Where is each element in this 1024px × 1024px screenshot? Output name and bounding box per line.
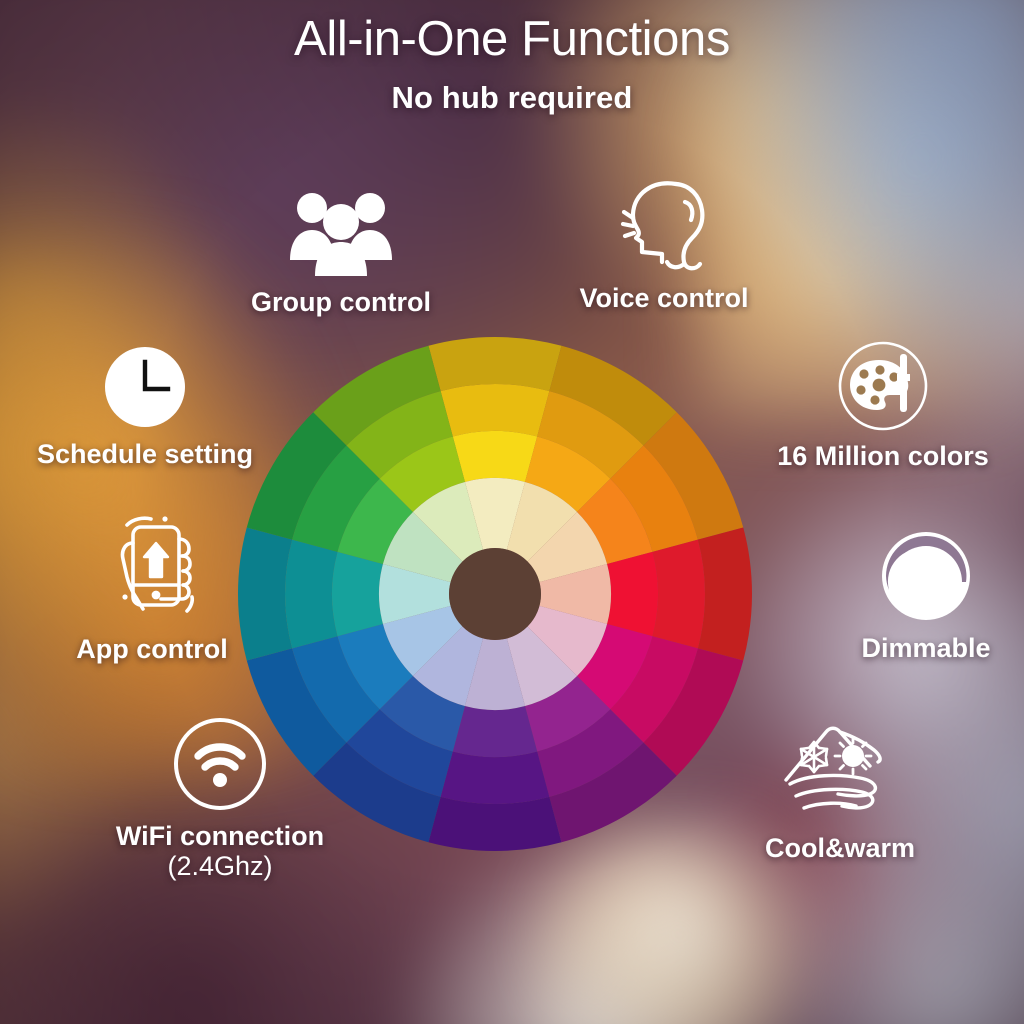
- infographic-canvas: All-in-One Functions No hub required Gro…: [0, 0, 1024, 1024]
- color-wheel-segment: [428, 797, 561, 851]
- color-wheel-hub: [449, 548, 541, 640]
- color-wheel-segment: [441, 384, 550, 437]
- color-wheel-segment: [332, 552, 383, 636]
- feature-app-control[interactable]: App control: [22, 513, 282, 664]
- feature-label: Schedule setting: [0, 439, 290, 469]
- color-wheel-segment: [652, 540, 705, 649]
- snowflake-sun-icon: [700, 718, 980, 829]
- header-block: All-in-One Functions No hub required: [0, 14, 1024, 116]
- feature-sublabel: (2.4Ghz): [60, 851, 380, 882]
- color-wheel-segment: [607, 552, 658, 636]
- feature-group-control[interactable]: Group control: [196, 186, 486, 317]
- feature-label: WiFi connection: [60, 821, 380, 851]
- voice-head-icon: [524, 176, 804, 279]
- feature-voice-control[interactable]: Voice control: [524, 176, 804, 313]
- color-wheel-segment: [441, 751, 550, 804]
- feature-label: Dimmable: [828, 633, 1024, 663]
- feature-16-million-colors[interactable]: 16 Million colors: [742, 340, 1024, 471]
- feature-dimmable[interactable]: Dimmable: [828, 528, 1024, 663]
- feature-label: Group control: [196, 287, 486, 317]
- dimmer-dial-icon: [828, 528, 1024, 629]
- feature-cool-warm[interactable]: Cool&warm: [700, 718, 980, 863]
- color-wheel-segment: [428, 337, 561, 391]
- feature-label: 16 Million colors: [742, 441, 1024, 471]
- feature-wifi-connection[interactable]: WiFi connection (2.4Ghz): [60, 716, 380, 882]
- feature-label: Cool&warm: [700, 833, 980, 863]
- group-people-icon: [196, 186, 486, 283]
- feature-schedule-setting[interactable]: Schedule setting: [0, 344, 290, 469]
- page-title: All-in-One Functions: [0, 14, 1024, 66]
- clock-icon: [0, 344, 290, 435]
- paint-palette-icon: [742, 340, 1024, 437]
- wifi-icon: [60, 716, 380, 817]
- feature-label: Voice control: [524, 283, 804, 313]
- color-wheel-segment: [453, 706, 537, 757]
- feature-label: App control: [22, 634, 282, 664]
- color-wheel-segment: [285, 540, 338, 649]
- page-subtitle: No hub required: [0, 80, 1024, 116]
- color-wheel-segment: [698, 527, 752, 660]
- color-wheel-segment: [453, 431, 537, 482]
- hand-phone-icon: [22, 513, 282, 630]
